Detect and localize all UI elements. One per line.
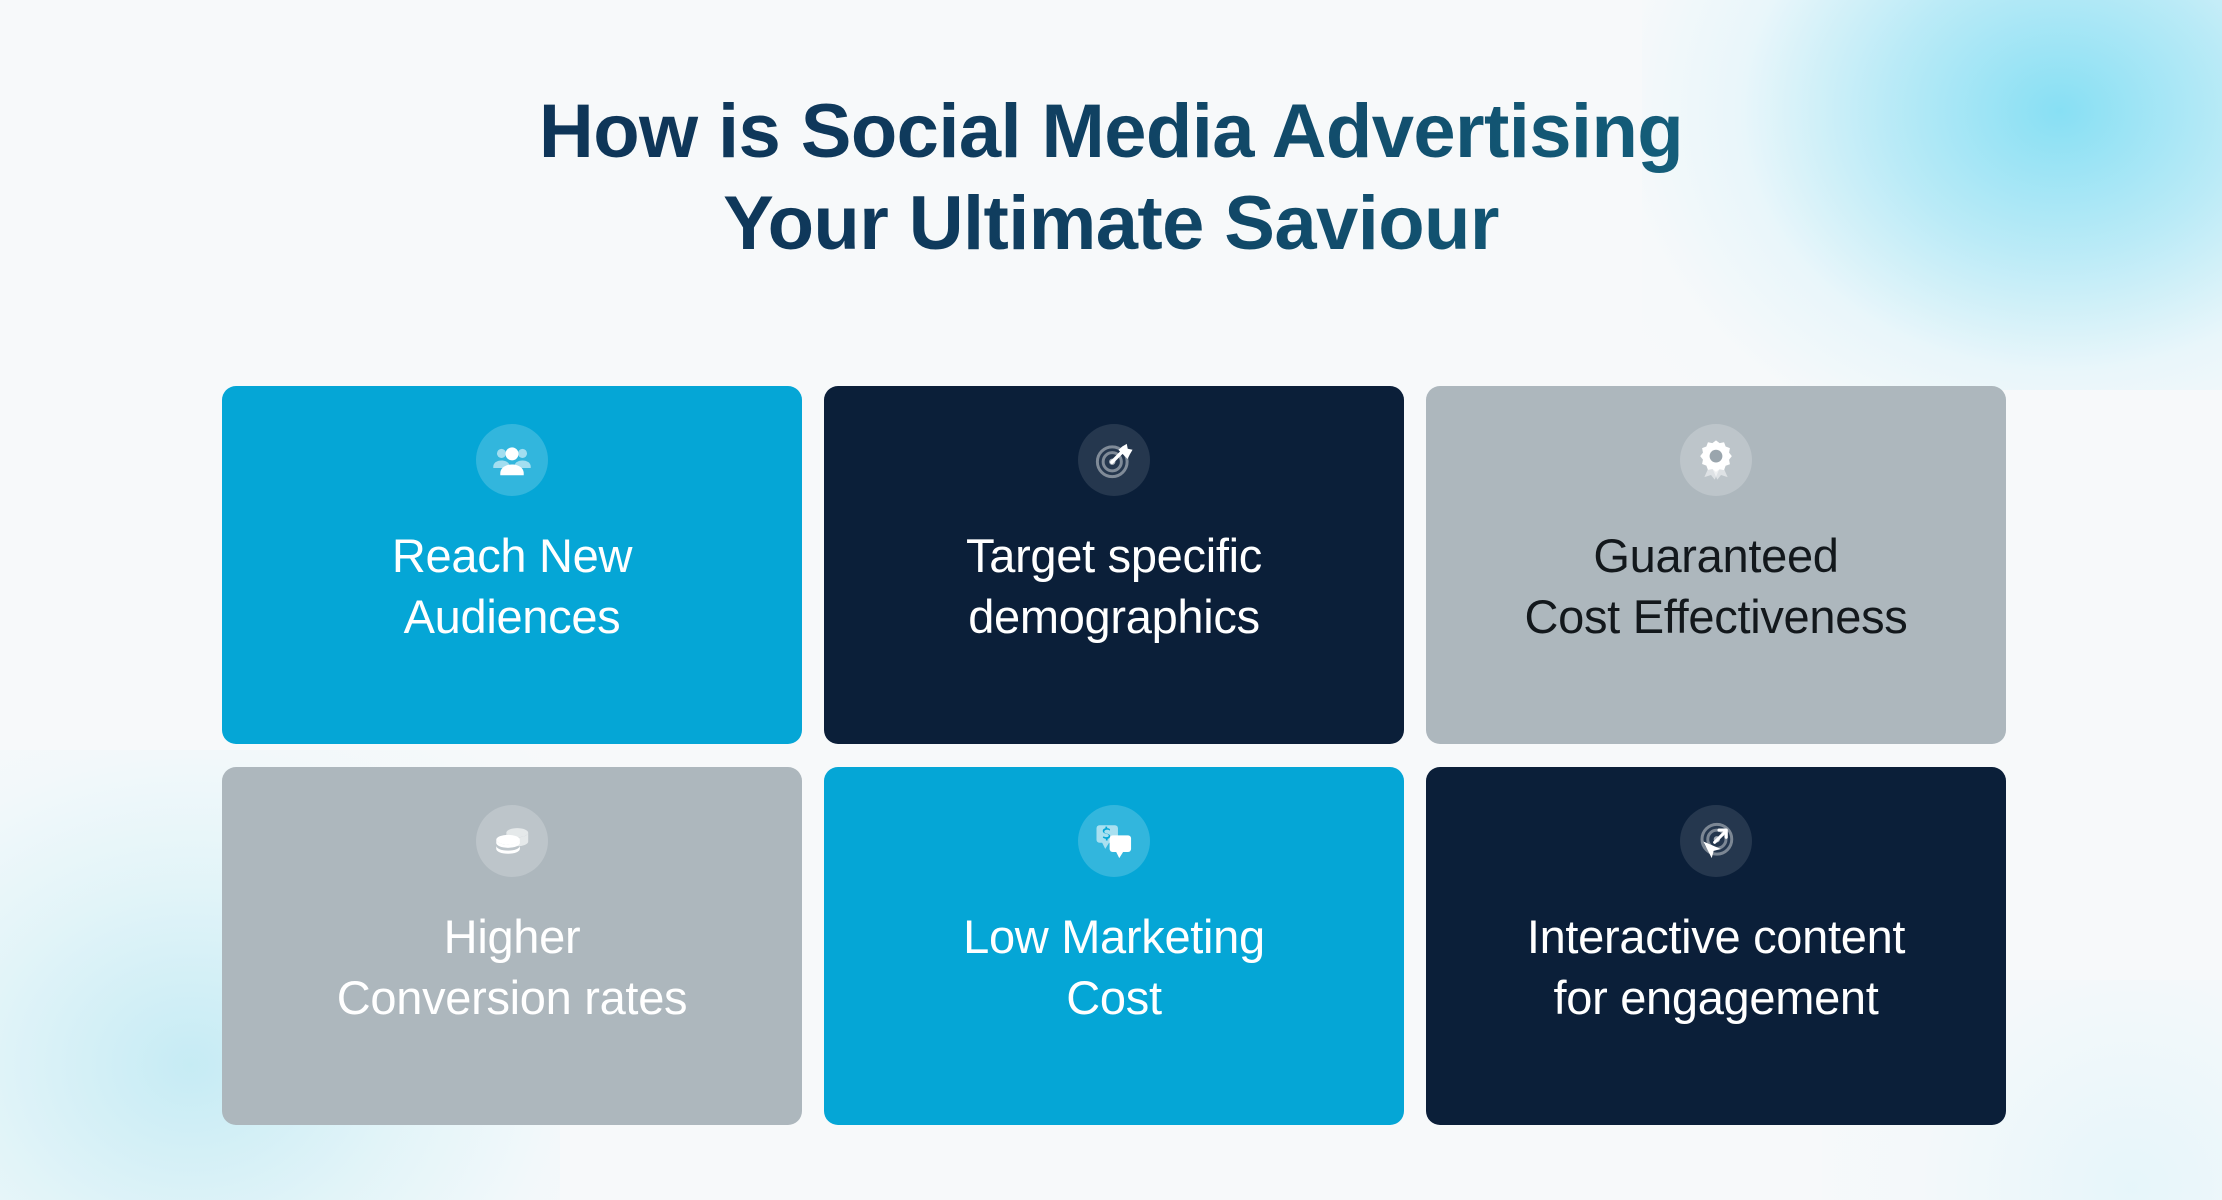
target-cursor-icon: [1680, 805, 1752, 877]
card-label-line-1: Target specific: [850, 526, 1378, 587]
benefit-card-label: Higher Conversion rates: [222, 907, 802, 1028]
chat-money-icon: [1078, 805, 1150, 877]
target-dart-icon: [1078, 424, 1150, 496]
card-label-line-2: Cost Effectiveness: [1452, 587, 1980, 648]
benefit-card-label: Low Marketing Cost: [824, 907, 1404, 1028]
page-title-line-1: How is Social Media Advertising: [0, 86, 2222, 178]
card-label-line-2: Cost: [850, 968, 1378, 1029]
benefit-card-target-specific-demographics[interactable]: Target specific demographics: [824, 386, 1404, 744]
card-label-line-2: Conversion rates: [248, 968, 776, 1029]
benefit-card-grid: Reach New Audiences Target specific demo…: [222, 386, 2006, 1125]
card-label-line-2: for engagement: [1452, 968, 1980, 1029]
card-label-line-2: demographics: [850, 587, 1378, 648]
benefit-card-guaranteed-cost-effectiveness[interactable]: Guaranteed Cost Effectiveness: [1426, 386, 2006, 744]
benefit-card-low-marketing-cost[interactable]: Low Marketing Cost: [824, 767, 1404, 1125]
card-label-line-1: Reach New: [248, 526, 776, 587]
card-label-line-1: Interactive content: [1452, 907, 1980, 968]
page-title: How is Social Media Advertising Your Ult…: [0, 86, 2222, 270]
benefit-card-label: Interactive content for engagement: [1426, 907, 2006, 1028]
card-label-line-2: Audiences: [248, 587, 776, 648]
benefit-card-label: Guaranteed Cost Effectiveness: [1426, 526, 2006, 647]
card-label-line-1: Guaranteed: [1452, 526, 1980, 587]
benefit-card-interactive-content-for-engagement[interactable]: Interactive content for engagement: [1426, 767, 2006, 1125]
coin-stack-icon: [476, 805, 548, 877]
page-title-line-2: Your Ultimate Saviour: [0, 178, 2222, 270]
award-ribbon-icon: [1680, 424, 1752, 496]
infographic-page: How is Social Media Advertising Your Ult…: [0, 0, 2222, 1200]
benefit-card-label: Reach New Audiences: [222, 526, 802, 647]
benefit-card-label: Target specific demographics: [824, 526, 1404, 647]
people-group-icon: [476, 424, 548, 496]
card-label-line-1: Higher: [248, 907, 776, 968]
benefit-card-higher-conversion-rates[interactable]: Higher Conversion rates: [222, 767, 802, 1125]
benefit-card-reach-new-audiences[interactable]: Reach New Audiences: [222, 386, 802, 744]
card-label-line-1: Low Marketing: [850, 907, 1378, 968]
